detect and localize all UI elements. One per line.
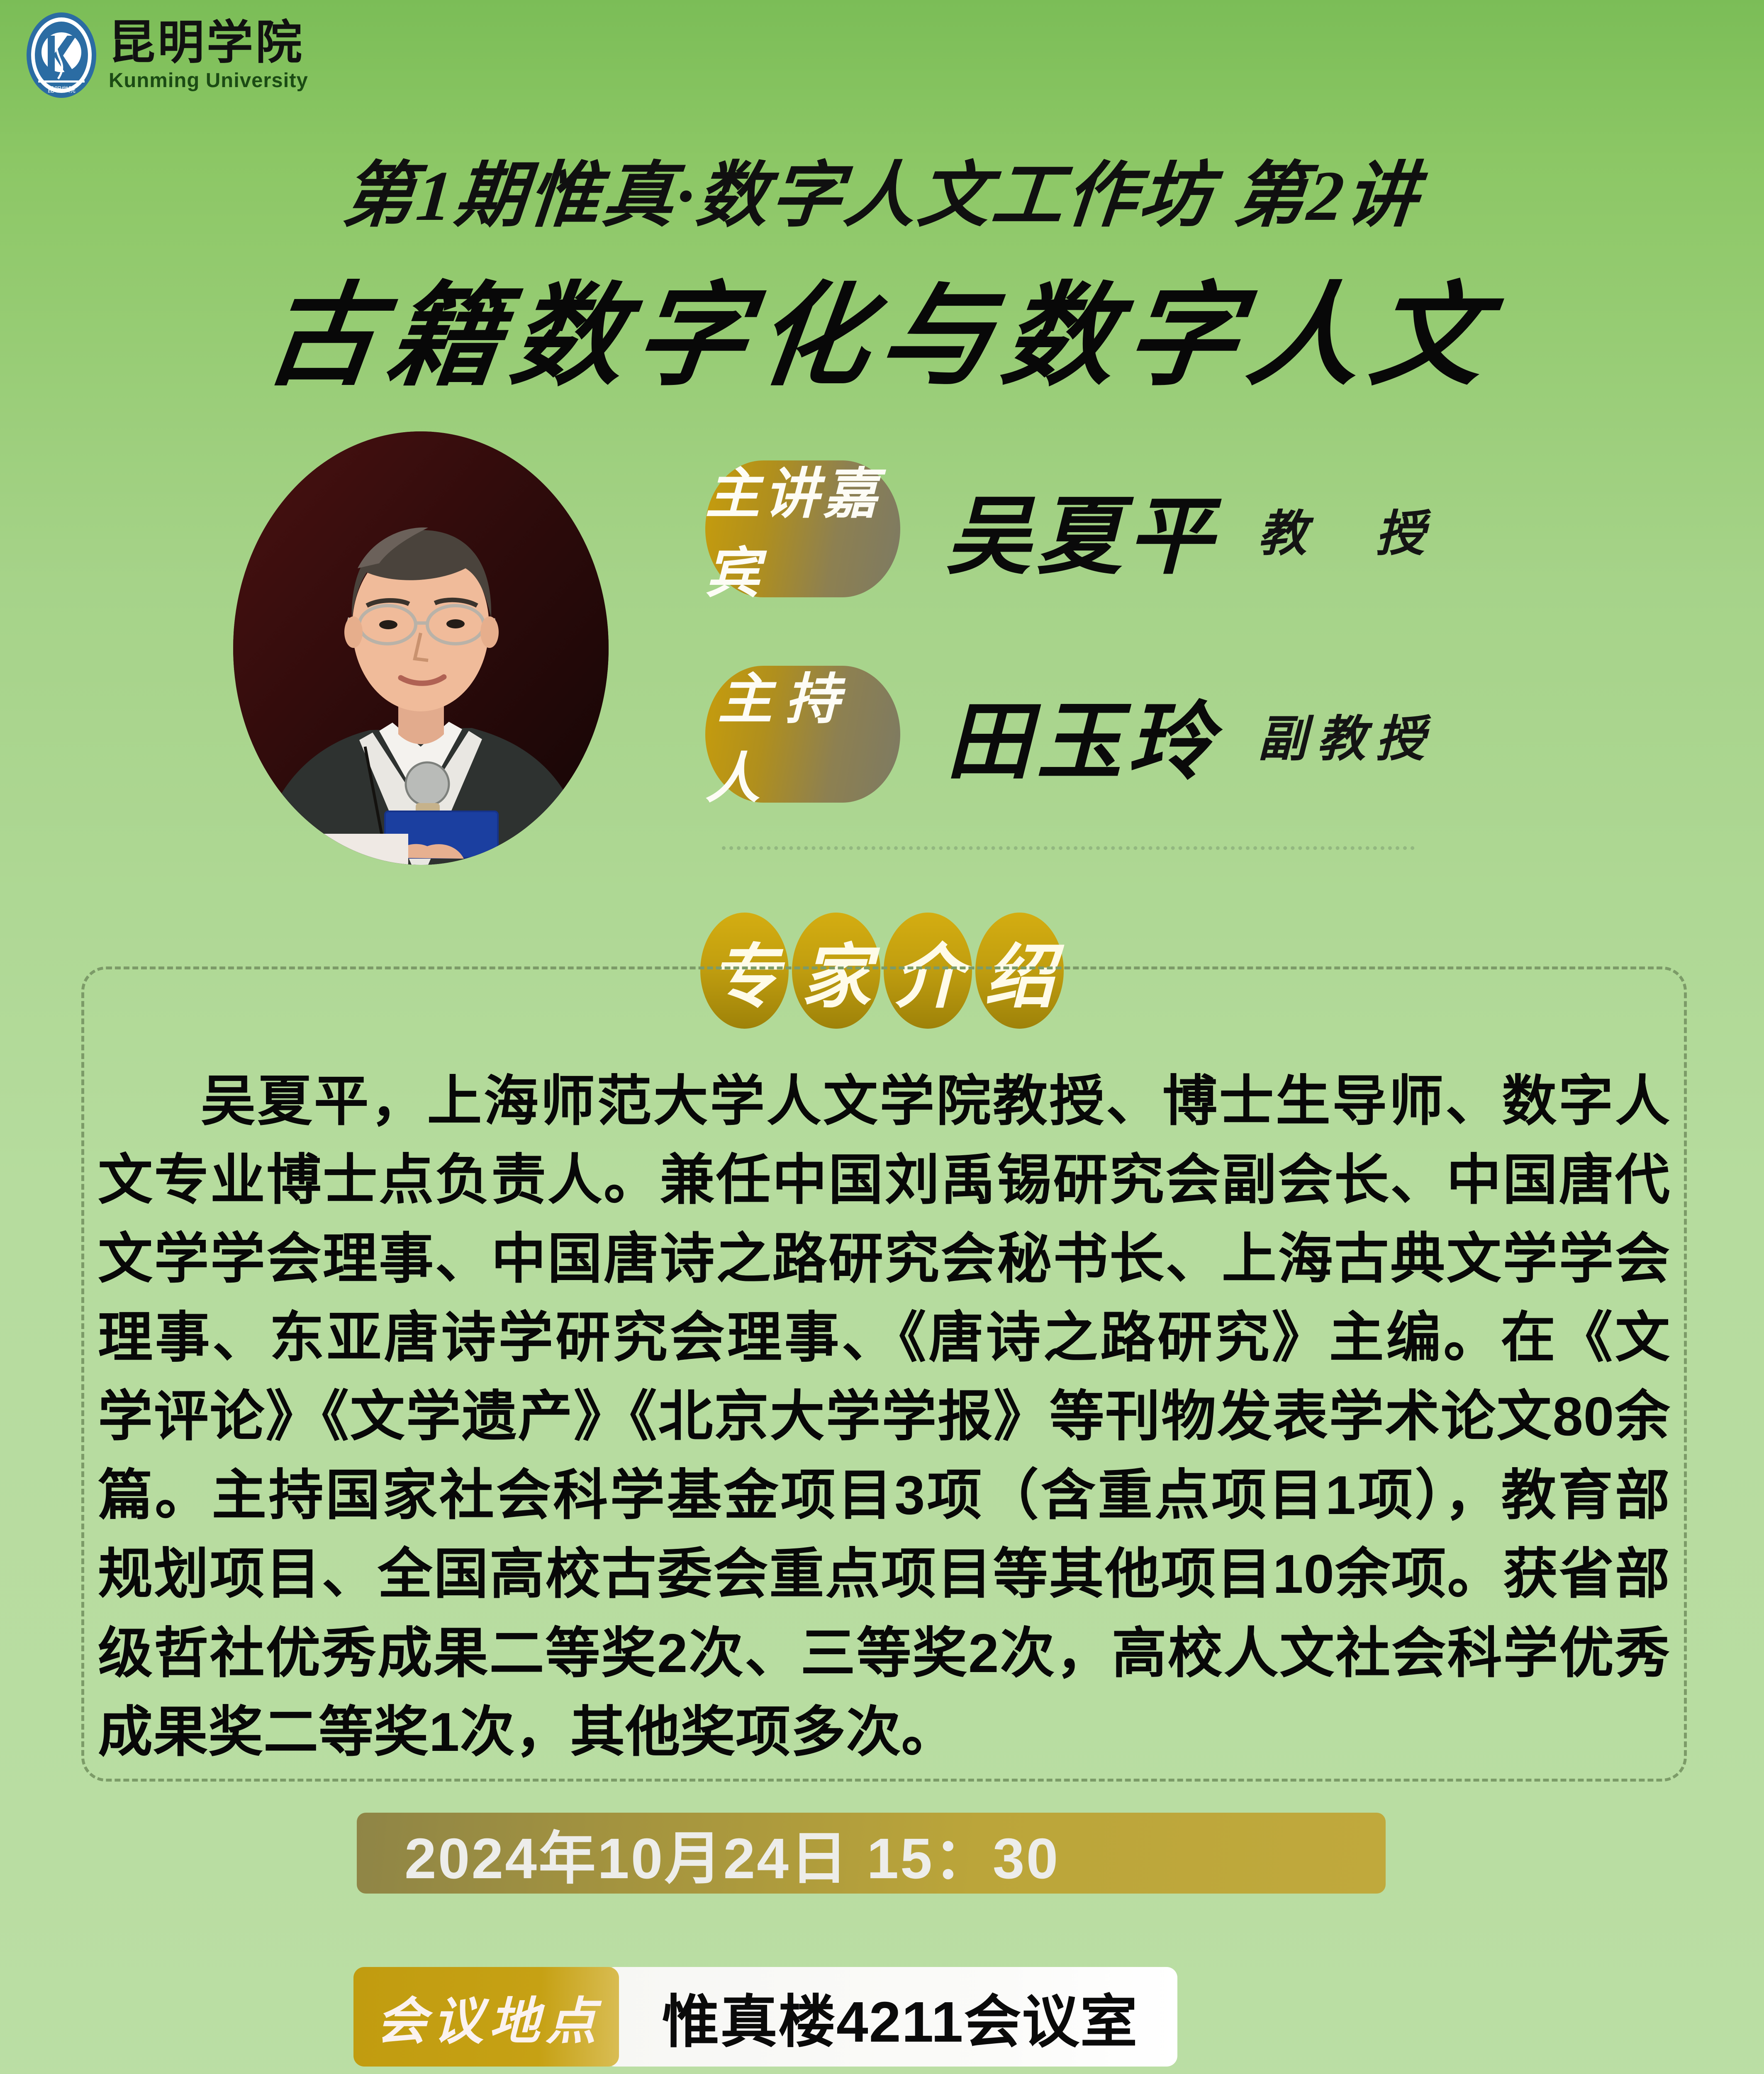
guest-name: 吴夏平 xyxy=(946,467,1218,591)
speaker-row-host: 主持人 田玉玲 副教授 xyxy=(705,662,1734,807)
university-logo: 昆明学院 昆明学院 Kunming University xyxy=(25,11,308,100)
speaker-row-guest: 主讲嘉宾 吴夏平 教 授 xyxy=(705,456,1734,601)
guest-rank: 教 授 xyxy=(1258,494,1435,565)
svg-text:昆明学院: 昆明学院 xyxy=(47,86,76,94)
host-name: 田玉玲 xyxy=(946,673,1218,796)
speaker-list: 主讲嘉宾 吴夏平 教 授 主持人 田玉玲 副教授 xyxy=(705,456,1734,807)
speaker-portrait xyxy=(233,431,609,865)
poster-root: 昆明学院 昆明学院 Kunming University 第1期惟真·数字人文工… xyxy=(0,0,1764,2074)
venue-label: 会议地点 xyxy=(353,1967,619,2067)
section-divider xyxy=(722,846,1415,850)
event-datetime-bar: 2024年10月24日 15：30 xyxy=(357,1813,1386,1894)
logo-chinese-name: 昆明学院 xyxy=(109,20,308,66)
kunming-university-emblem-icon: 昆明学院 xyxy=(25,11,98,100)
page-title: 古籍数字化与数字人文 xyxy=(0,245,1764,407)
expert-bio-text: 吴夏平，上海师范大学人文学院教授、博士生导师、数字人文专业博士点负责人。兼任中国… xyxy=(98,1062,1670,1772)
guest-role-badge: 主讲嘉宾 xyxy=(705,460,900,597)
logo-english-name: Kunming University xyxy=(109,71,308,91)
event-venue-row: 会议地点 惟真楼4211会议室 xyxy=(353,1967,1177,2067)
series-kicker-title: 第1期惟真·数字人文工作坊 第2讲 xyxy=(0,137,1764,241)
host-role-badge: 主持人 xyxy=(705,666,900,803)
host-rank: 副教授 xyxy=(1258,699,1435,770)
venue-value: 惟真楼4211会议室 xyxy=(604,1967,1177,2067)
